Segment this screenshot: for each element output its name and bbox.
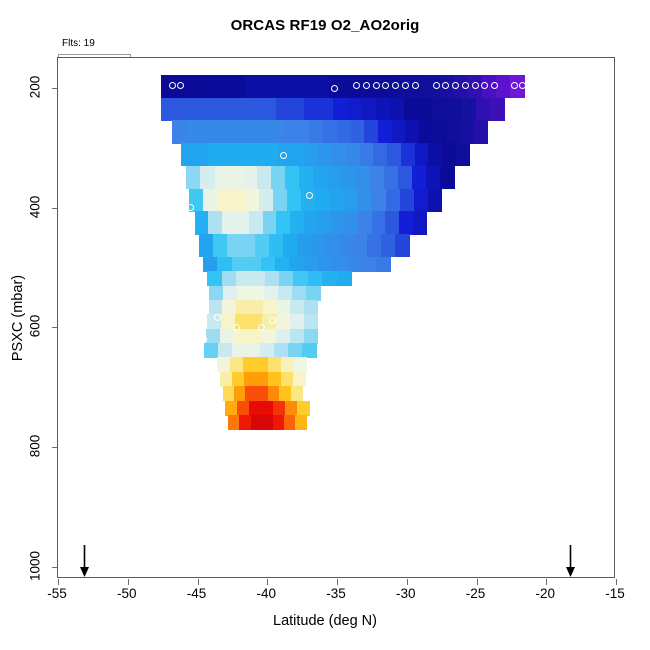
heatmap-cell	[313, 166, 328, 189]
heatmap-cell	[200, 120, 214, 143]
heatmap-cell	[447, 98, 462, 121]
heatmap-cell	[414, 189, 429, 212]
heatmap-cell	[376, 257, 391, 272]
data-point-marker	[472, 82, 479, 89]
heatmap-cell	[358, 211, 372, 234]
heatmap-cell	[304, 300, 318, 315]
heatmap-cell	[361, 98, 376, 121]
heatmap-cell	[306, 286, 321, 301]
axis-range-arrow	[564, 544, 577, 578]
heatmap-cell	[400, 189, 415, 212]
heatmap-cell	[251, 415, 263, 430]
heatmap-cell	[276, 98, 291, 121]
y-axis-tick-label: 200	[28, 76, 43, 99]
heatmap-cell	[490, 98, 505, 121]
heatmap-cell	[290, 329, 305, 344]
heatmap-cell	[295, 415, 307, 430]
data-point-marker	[306, 192, 313, 199]
heatmap-cell	[440, 166, 455, 189]
y-axis-tick	[52, 327, 58, 328]
heatmap-cell	[447, 120, 461, 143]
heatmap-cell	[290, 211, 304, 234]
heatmap-cell	[241, 120, 255, 143]
heatmap-cell	[299, 166, 314, 189]
data-point-marker	[511, 82, 518, 89]
x-axis-tick	[128, 579, 129, 585]
heatmap-cell	[386, 189, 401, 212]
heatmap-cell	[442, 143, 456, 166]
y-axis-tick-label: 600	[28, 315, 43, 338]
heatmap-cell	[404, 98, 419, 121]
heatmap-cell	[378, 120, 392, 143]
heatmap-cell	[217, 257, 232, 272]
heatmap-cell	[255, 357, 268, 372]
data-point-marker	[261, 565, 268, 572]
heatmap-cell	[304, 329, 319, 344]
y-axis-tick-label: 800	[28, 435, 43, 458]
heatmap-cell	[220, 372, 233, 387]
heatmap-cell	[357, 189, 372, 212]
heatmap-cell	[315, 189, 330, 212]
heatmap-cell	[332, 257, 347, 272]
flights-count-label: Flts: 19	[62, 38, 95, 49]
heatmap-cell	[223, 386, 235, 401]
heatmap-cell	[315, 75, 330, 98]
y-axis-tick	[52, 567, 58, 568]
heatmap-layer	[58, 58, 616, 579]
heatmap-cell	[285, 401, 298, 416]
plot-area	[57, 57, 615, 578]
heatmap-cell	[327, 166, 342, 189]
heatmap-cell	[428, 143, 442, 166]
heatmap-cell	[200, 166, 215, 189]
heatmap-cell	[381, 234, 396, 257]
y-axis-tick	[52, 88, 58, 89]
heatmap-cell	[259, 189, 274, 212]
heatmap-cell	[419, 98, 434, 121]
heatmap-cell	[333, 98, 348, 121]
heatmap-cell	[203, 257, 218, 272]
heatmap-cell	[332, 143, 346, 166]
heatmap-cell	[237, 286, 252, 301]
data-point-marker	[331, 85, 338, 92]
heatmap-cell	[273, 401, 286, 416]
data-point-marker	[233, 324, 240, 331]
heatmap-cell	[456, 143, 470, 166]
heatmap-cell	[268, 372, 281, 387]
heatmap-cell	[285, 166, 300, 189]
heatmap-cell	[268, 357, 281, 372]
heatmap-cell	[413, 211, 427, 234]
x-axis-tick	[198, 579, 199, 585]
heatmap-cell	[293, 271, 308, 286]
heatmap-cell	[232, 343, 247, 358]
x-axis-tick-label: -20	[535, 586, 555, 601]
heatmap-cell	[287, 75, 302, 98]
data-point-marker	[519, 82, 526, 89]
heatmap-cell	[223, 286, 238, 301]
heatmap-cell	[269, 234, 284, 257]
heatmap-cell	[249, 300, 263, 315]
heatmap-cell	[387, 143, 401, 166]
heatmap-cell	[203, 189, 218, 212]
heatmap-cell	[228, 415, 240, 430]
heatmap-cell	[361, 257, 376, 272]
heatmap-cell	[309, 120, 323, 143]
heatmap-cell	[176, 98, 191, 121]
data-point-marker	[300, 566, 307, 573]
heatmap-cell	[217, 75, 232, 98]
heatmap-cell	[496, 75, 511, 98]
x-axis-tick-label: -25	[466, 586, 486, 601]
heatmap-cell	[428, 189, 443, 212]
heatmap-cell	[273, 415, 285, 430]
heatmap-cell	[297, 401, 310, 416]
heatmap-cell	[291, 143, 305, 166]
heatmap-cell	[213, 234, 228, 257]
heatmap-cell	[186, 120, 200, 143]
heatmap-cell	[264, 286, 279, 301]
heatmap-cell	[244, 372, 257, 387]
y-axis-label: PSXC (mbar)	[10, 275, 26, 361]
heatmap-cell	[255, 234, 270, 257]
heatmap-cell	[231, 75, 246, 98]
heatmap-cell	[364, 120, 378, 143]
heatmap-cell	[329, 189, 344, 212]
heatmap-cell	[412, 166, 427, 189]
heatmap-cell	[249, 401, 262, 416]
data-point-marker	[254, 565, 261, 572]
heatmap-cell	[250, 143, 264, 166]
heatmap-cell	[281, 372, 294, 387]
heatmap-cell	[395, 234, 410, 257]
heatmap-cell	[279, 386, 291, 401]
x-axis-tick	[58, 579, 59, 585]
heatmap-cell	[462, 98, 477, 121]
x-axis-tick	[337, 579, 338, 585]
heatmap-cell	[231, 189, 246, 212]
heatmap-cell	[262, 415, 274, 430]
heatmap-cell	[474, 120, 488, 143]
heatmap-cell	[257, 386, 269, 401]
heatmap-cell	[261, 98, 276, 121]
heatmap-cell	[346, 143, 360, 166]
heatmap-cell	[347, 98, 362, 121]
heatmap-cell	[208, 143, 222, 166]
heatmap-cell	[302, 343, 317, 358]
heatmap-cell	[356, 166, 371, 189]
heatmap-cell	[218, 343, 233, 358]
x-axis-tick-label: -40	[256, 586, 276, 601]
heatmap-cell	[290, 314, 304, 329]
heatmap-cell	[236, 211, 250, 234]
heatmap-cell	[186, 166, 201, 189]
heatmap-cell	[351, 120, 365, 143]
heatmap-cell	[227, 120, 241, 143]
heatmap-cell	[241, 234, 256, 257]
x-axis-tick-label: -35	[326, 586, 346, 601]
data-point-marker	[208, 441, 215, 448]
heatmap-cell	[246, 257, 261, 272]
heatmap-cell	[263, 143, 277, 166]
data-point-marker	[236, 435, 243, 442]
heatmap-cell	[222, 271, 237, 286]
data-point-marker	[373, 82, 380, 89]
heatmap-cell	[384, 166, 399, 189]
heatmap-cell	[283, 234, 298, 257]
heatmap-cell	[249, 211, 263, 234]
heatmap-cell	[282, 120, 296, 143]
heatmap-cell	[353, 234, 368, 257]
data-point-marker	[363, 82, 370, 89]
heatmap-cell	[371, 189, 386, 212]
heatmap-cell	[236, 300, 250, 315]
heatmap-cell	[225, 401, 238, 416]
heatmap-cell	[229, 166, 244, 189]
heatmap-cell	[385, 211, 399, 234]
y-axis-tick	[52, 208, 58, 209]
data-point-marker	[200, 336, 207, 343]
heatmap-cell	[345, 211, 359, 234]
heatmap-cell	[273, 75, 288, 98]
data-point-marker	[433, 82, 440, 89]
heatmap-cell	[265, 271, 280, 286]
heatmap-cell	[433, 120, 447, 143]
heatmap-cell	[401, 143, 415, 166]
heatmap-cell	[217, 357, 230, 372]
heatmap-cell	[251, 286, 266, 301]
heatmap-cell	[214, 120, 228, 143]
axis-range-arrow	[78, 544, 91, 578]
heatmap-cell	[372, 211, 386, 234]
heatmap-cell	[206, 329, 221, 344]
x-axis-tick-label: -15	[605, 586, 625, 601]
heatmap-cell	[415, 143, 429, 166]
data-point-marker	[412, 82, 419, 89]
heatmap-cell	[311, 234, 326, 257]
heatmap-cell	[257, 166, 272, 189]
heatmap-cell	[234, 386, 246, 401]
heatmap-cell	[230, 357, 243, 372]
x-axis-tick-label: -50	[117, 586, 137, 601]
heatmap-cell	[293, 372, 306, 387]
heatmap-cell	[222, 211, 236, 234]
heatmap-cell	[376, 98, 391, 121]
heatmap-cell	[304, 257, 319, 272]
x-axis-tick	[616, 579, 617, 585]
heatmap-cell	[245, 75, 260, 98]
heatmap-cell	[305, 143, 319, 166]
heatmap-cell	[339, 234, 354, 257]
heatmap-cell	[290, 98, 305, 121]
heatmap-cell	[189, 75, 204, 98]
heatmap-cell	[276, 329, 291, 344]
heatmap-cell	[256, 372, 269, 387]
heatmap-cell	[268, 386, 280, 401]
heatmap-cell	[222, 143, 236, 166]
y-axis-tick-label: 1000	[28, 551, 43, 581]
x-axis-label: Latitude (deg N)	[0, 613, 650, 629]
heatmap-cell	[207, 271, 222, 286]
heatmap-cell	[276, 211, 290, 234]
heatmap-cell	[262, 329, 277, 344]
heatmap-cell	[247, 98, 262, 121]
heatmap-cell	[308, 271, 323, 286]
heatmap-cell	[399, 211, 413, 234]
heatmap-cell	[288, 343, 303, 358]
heatmap-cell	[323, 120, 337, 143]
heatmap-cell	[245, 189, 260, 212]
data-point-marker	[214, 314, 221, 321]
heatmap-cell	[390, 98, 405, 121]
heatmap-cell	[232, 372, 245, 387]
heatmap-cell	[203, 75, 218, 98]
heatmap-cell	[227, 234, 242, 257]
heatmap-cell	[222, 300, 236, 315]
heatmap-cell	[292, 286, 307, 301]
figure-canvas: ORCAS RF19 O2_AO2orig Flts: 19 MMDD: 022…	[0, 0, 650, 650]
heatmap-cell	[261, 257, 276, 272]
heatmap-cell	[232, 257, 247, 272]
heatmap-cell	[392, 120, 406, 143]
heatmap-cell	[275, 257, 290, 272]
heatmap-cell	[281, 357, 294, 372]
data-point-marker	[222, 565, 229, 572]
y-axis-tick	[52, 447, 58, 448]
heatmap-cell	[297, 234, 312, 257]
data-point-marker	[402, 82, 409, 89]
heatmap-cell	[236, 143, 250, 166]
data-point-marker	[328, 288, 335, 295]
heatmap-cell	[287, 189, 302, 212]
heatmap-cell	[341, 166, 356, 189]
heatmap-cell	[343, 189, 358, 212]
heatmap-cell	[304, 211, 318, 234]
heatmap-cell	[284, 415, 296, 430]
heatmap-cell	[318, 257, 333, 272]
heatmap-cell	[318, 143, 332, 166]
x-axis-tick	[267, 579, 268, 585]
heatmap-cell	[181, 143, 195, 166]
page-title: ORCAS RF19 O2_AO2orig	[0, 17, 650, 34]
heatmap-cell	[296, 120, 310, 143]
data-point-marker	[353, 82, 360, 89]
heatmap-cell	[217, 189, 232, 212]
heatmap-cell	[172, 120, 186, 143]
heatmap-cell	[237, 401, 250, 416]
heatmap-cell	[317, 211, 331, 234]
heatmap-cell	[278, 286, 293, 301]
heatmap-cell	[271, 166, 286, 189]
heatmap-cell	[215, 166, 230, 189]
heatmap-cell	[161, 98, 176, 121]
heatmap-cell	[347, 257, 362, 272]
heatmap-cell	[370, 166, 385, 189]
heatmap-cell	[273, 189, 288, 212]
heatmap-cell	[294, 357, 307, 372]
data-point-marker	[462, 82, 469, 89]
heatmap-cell	[268, 120, 282, 143]
heatmap-cell	[289, 257, 304, 272]
heatmap-cell	[398, 166, 413, 189]
heatmap-cell	[263, 211, 277, 234]
heatmap-cell	[476, 98, 491, 121]
heatmap-cell	[245, 386, 257, 401]
heatmap-cell	[277, 300, 291, 315]
heatmap-cell	[419, 120, 433, 143]
heatmap-cell	[208, 211, 222, 234]
heatmap-cell	[304, 314, 318, 329]
heatmap-cell	[325, 234, 340, 257]
heatmap-cell	[255, 120, 269, 143]
x-axis-tick-label: -45	[187, 586, 207, 601]
heatmap-cell	[246, 343, 261, 358]
heatmap-cell	[220, 329, 235, 344]
heatmap-cell	[260, 343, 275, 358]
heatmap-cell	[190, 98, 205, 121]
x-axis-tick-label: -30	[396, 586, 416, 601]
heatmap-cell	[460, 120, 474, 143]
heatmap-cell	[239, 415, 251, 430]
heatmap-cell	[209, 300, 223, 315]
heatmap-cell	[243, 166, 258, 189]
heatmap-cell	[373, 143, 387, 166]
y-axis-tick-label: 400	[28, 195, 43, 218]
data-point-marker	[283, 444, 290, 451]
heatmap-cell	[261, 401, 274, 416]
heatmap-cell	[204, 343, 219, 358]
heatmap-cell	[195, 143, 209, 166]
x-axis-tick	[477, 579, 478, 585]
heatmap-cell	[291, 386, 303, 401]
x-axis-tick	[407, 579, 408, 585]
heatmap-cell	[290, 300, 304, 315]
heatmap-cell	[319, 98, 334, 121]
heatmap-cell	[360, 143, 374, 166]
heatmap-cell	[263, 300, 277, 315]
heatmap-cell	[274, 343, 289, 358]
heatmap-cell	[233, 98, 248, 121]
heatmap-cell	[367, 234, 382, 257]
heatmap-cell	[301, 75, 316, 98]
heatmap-cell	[405, 120, 419, 143]
heatmap-cell	[250, 271, 265, 286]
heatmap-cell	[279, 271, 294, 286]
x-axis-tick-label: -55	[47, 586, 67, 601]
heatmap-cell	[218, 98, 233, 121]
heatmap-cell	[243, 357, 256, 372]
x-axis-tick	[546, 579, 547, 585]
heatmap-cell	[195, 211, 209, 234]
heatmap-cell	[276, 314, 290, 329]
heatmap-cell	[322, 271, 337, 286]
heatmap-cell	[199, 234, 214, 257]
heatmap-cell	[304, 98, 319, 121]
heatmap-cell	[331, 211, 345, 234]
heatmap-cell	[236, 271, 251, 286]
heatmap-cell	[259, 75, 274, 98]
heatmap-cell	[337, 120, 351, 143]
heatmap-cell	[337, 271, 352, 286]
heatmap-cell	[433, 98, 448, 121]
data-point-marker	[169, 82, 176, 89]
heatmap-cell	[204, 98, 219, 121]
heatmap-cell	[426, 166, 441, 189]
heatmap-cell	[209, 286, 224, 301]
